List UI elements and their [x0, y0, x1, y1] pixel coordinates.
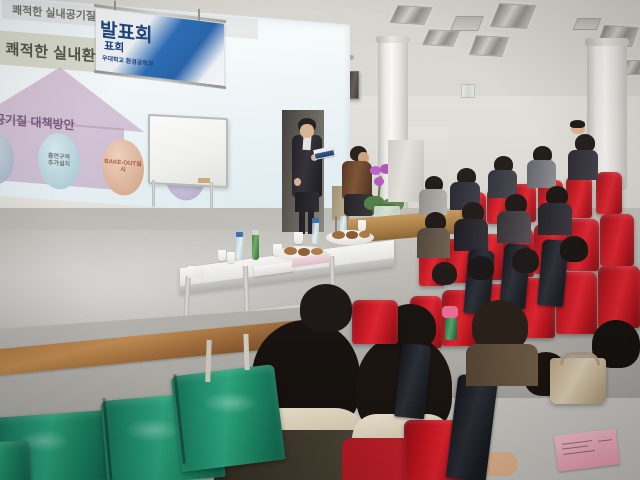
bottle-cap	[236, 232, 243, 237]
whiteboard-marker-tray	[198, 178, 210, 183]
attendee-torso	[568, 150, 598, 180]
attendee-head	[432, 262, 457, 285]
banner-line-3: 우대학교 환경공학과	[102, 53, 153, 68]
paper-cup	[358, 220, 366, 231]
column-capital	[376, 36, 410, 43]
red-auditorium-seat[interactable]	[596, 172, 622, 214]
column-capital	[585, 38, 629, 46]
slide-oval-3-label: BAKE-OUT실시	[102, 159, 144, 176]
ceiling-light-icon	[469, 35, 510, 57]
presenter-lower-garment	[295, 192, 319, 212]
drink-can	[445, 318, 457, 340]
ceiling-vent-icon	[573, 18, 602, 30]
attendee-head	[512, 248, 539, 273]
presenter-hand	[294, 178, 301, 186]
snack-food	[359, 231, 370, 238]
presenter-face	[300, 124, 314, 138]
attendee-torso	[417, 228, 450, 258]
table-napkin	[188, 266, 204, 278]
attendee-jacket	[466, 344, 538, 386]
attendee-head	[560, 236, 588, 262]
auditorium-seminar-photo: 쾌적한 실내공기질 대책방안 쾌적한 실내환경 실내공기질 대책방안 흡연구역 …	[0, 0, 640, 480]
light-switch-plate-icon	[461, 84, 475, 98]
seat-wear-mark	[124, 418, 182, 442]
snack-food	[298, 248, 310, 256]
green-bottle	[252, 234, 259, 260]
seat-wear-mark	[202, 392, 258, 414]
paper-cup	[294, 232, 303, 244]
paper-cup	[218, 250, 226, 261]
water-bottle	[236, 236, 243, 260]
handbag-strap	[560, 352, 600, 365]
green-bench-seat[interactable]	[171, 364, 286, 472]
pink-item	[442, 306, 458, 318]
paper-cup	[227, 252, 235, 263]
orchid-bloom	[374, 177, 384, 186]
attendee-torso	[454, 219, 488, 251]
whiteboard-surface[interactable]	[148, 114, 228, 188]
attendee-head	[300, 284, 352, 332]
banner-hook	[198, 9, 200, 21]
attendee-torso	[497, 211, 531, 243]
presenter	[286, 118, 330, 234]
red-auditorium-seat[interactable]	[352, 300, 398, 344]
slide-oval-2-label: 흡연구역 추가설치	[48, 153, 70, 169]
snack-food	[332, 231, 345, 239]
snack-food	[284, 247, 297, 255]
green-bench-seat[interactable]	[0, 440, 31, 480]
bottle-cap	[252, 230, 259, 235]
water-bottle	[312, 222, 319, 244]
red-auditorium-seat[interactable]	[600, 214, 634, 266]
attendee-torso	[527, 160, 556, 188]
snack-food	[346, 231, 358, 239]
slide-headline-text: 쾌적한 실내환경	[6, 37, 111, 66]
attendee-head	[468, 256, 494, 280]
standing-attendee-hair	[570, 120, 585, 128]
bottle-cap	[312, 218, 319, 223]
attendee-torso	[419, 189, 447, 215]
banner-hook	[114, 0, 116, 10]
red-auditorium-seat[interactable]	[598, 266, 640, 328]
wall-banner: 발표회 표회 우대학교 환경공학과	[96, 0, 224, 102]
attendee-torso	[538, 203, 572, 235]
